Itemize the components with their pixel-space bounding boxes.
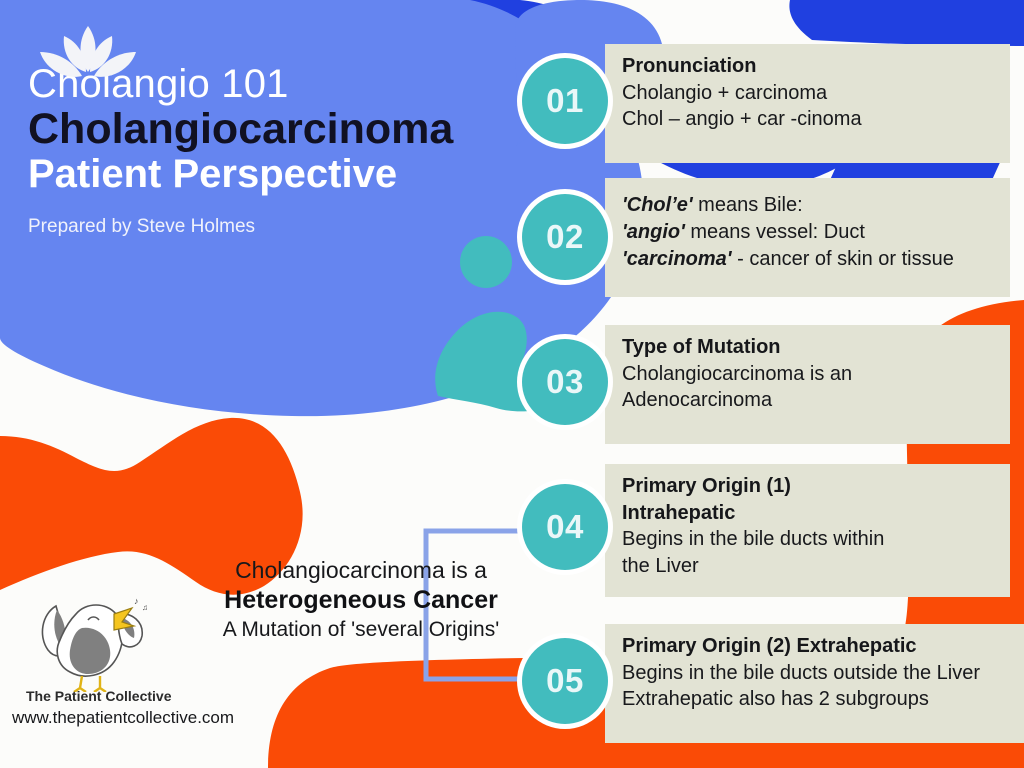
step-card-02[interactable]: 'Chol’e' means Bile: 'angio' means vesse… bbox=[605, 178, 1010, 297]
step-heading-04: Primary Origin (1) bbox=[622, 473, 996, 500]
step-line-05-2: Extrahepatic also has 2 subgroups bbox=[622, 686, 1011, 713]
step-number-05: 05 bbox=[546, 662, 584, 700]
term-angio: 'angio' bbox=[622, 221, 685, 243]
step-card-05[interactable]: Primary Origin (2) Extrahepatic Begins i… bbox=[605, 624, 1024, 743]
svg-text:♪: ♪ bbox=[134, 596, 139, 606]
step-heading-03: Type of Mutation bbox=[622, 334, 996, 361]
step-badge-03[interactable]: 03 bbox=[522, 339, 608, 425]
step-number-04: 04 bbox=[546, 508, 584, 546]
step-line-02-2-rest: means vessel: Duct bbox=[685, 221, 865, 243]
brand-name: The Patient Collective bbox=[26, 688, 262, 704]
singing-bird-logo: ♪ ♫ bbox=[26, 592, 152, 692]
svg-text:♫: ♫ bbox=[142, 603, 148, 612]
step-subheading-04: Intrahepatic bbox=[622, 500, 996, 527]
teal-accent-circle bbox=[460, 236, 512, 288]
step-line-02-1-rest: means Bile: bbox=[693, 194, 803, 216]
step-line-03-1: Cholangiocarcinoma is an bbox=[622, 361, 996, 388]
step-line-05-1: Begins in the bile ducts outside the Liv… bbox=[622, 660, 1011, 687]
page-subtitle: Patient Perspective bbox=[28, 152, 498, 198]
step-number-01: 01 bbox=[546, 82, 584, 120]
step-line-04-1: Begins in the bile ducts within bbox=[622, 526, 996, 553]
step-line-01-2: Chol – angio + car -cinoma bbox=[622, 106, 996, 133]
step-card-03[interactable]: Type of Mutation Cholangiocarcinoma is a… bbox=[605, 325, 1010, 444]
term-chole: 'Chol’e' bbox=[622, 194, 693, 216]
step-line-02-3-rest: - cancer of skin or tissue bbox=[732, 248, 954, 270]
step-line-04-2: the Liver bbox=[622, 553, 996, 580]
callout-line-1: Cholangiocarcinoma is a bbox=[196, 556, 526, 585]
step-line-03-2: Adenocarcinoma bbox=[622, 387, 996, 414]
step-card-01[interactable]: Pronunciation Cholangio + carcinoma Chol… bbox=[605, 44, 1010, 163]
step-badge-05[interactable]: 05 bbox=[522, 638, 608, 724]
step-card-04[interactable]: Primary Origin (1) Intrahepatic Begins i… bbox=[605, 464, 1010, 597]
brand-url[interactable]: www.thepatientcollective.com bbox=[12, 708, 262, 728]
step-heading-05: Primary Origin (2) Extrahepatic bbox=[622, 633, 1011, 660]
step-number-02: 02 bbox=[546, 218, 584, 256]
step-line-02-2: 'angio' means vessel: Duct bbox=[622, 219, 996, 246]
step-badge-04[interactable]: 04 bbox=[522, 484, 608, 570]
step-badge-01[interactable]: 01 bbox=[522, 58, 608, 144]
term-carcinoma: 'carcinoma' bbox=[622, 248, 732, 270]
orange-arc-top bbox=[491, 0, 566, 50]
step-heading-01: Pronunciation bbox=[622, 53, 996, 80]
infographic-canvas: Cholangio 101 Cholangiocarcinoma Patient… bbox=[0, 0, 1024, 768]
step-badge-02[interactable]: 02 bbox=[522, 194, 608, 280]
step-line-01-1: Cholangio + carcinoma bbox=[622, 80, 996, 107]
step-line-02-1: 'Chol’e' means Bile: bbox=[622, 192, 996, 219]
page-title: Cholangiocarcinoma bbox=[28, 105, 498, 153]
byline-text: Prepared by Steve Holmes bbox=[28, 216, 498, 238]
lotus-flower-icon bbox=[28, 22, 148, 94]
step-number-03: 03 bbox=[546, 363, 584, 401]
step-line-02-3: 'carcinoma' - cancer of skin or tissue bbox=[622, 246, 996, 273]
deep-blue-swoosh-top-right bbox=[789, 0, 1024, 46]
brand-footer: ♪ ♫ The Patient Collective www.thepatien… bbox=[12, 592, 262, 728]
